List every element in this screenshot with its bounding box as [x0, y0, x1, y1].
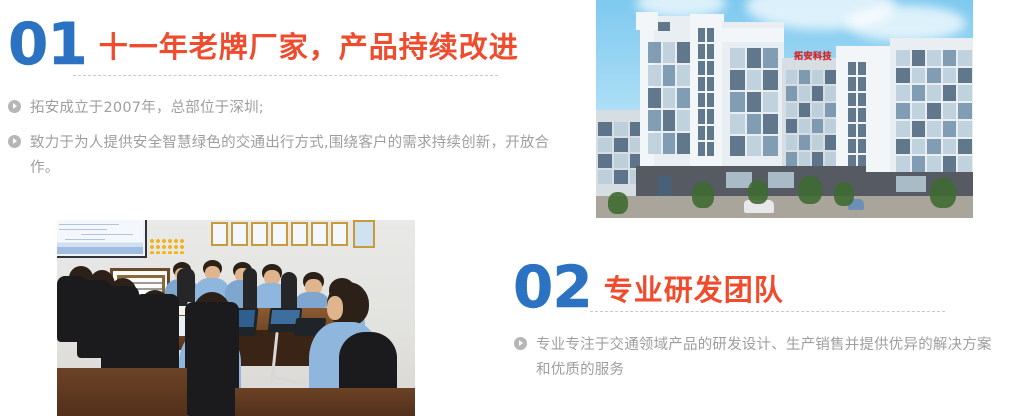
ground-road	[596, 196, 973, 218]
certificate-frame	[291, 222, 308, 246]
section-01: 01 十一年老牌厂家，产品持续改进	[8, 12, 568, 70]
screen-line	[65, 239, 105, 240]
floor	[235, 388, 415, 416]
section-01-number: 01	[8, 18, 87, 70]
window-grid	[730, 48, 778, 156]
roof-box	[636, 12, 658, 30]
list-item-text: 拓安成立于2007年，总部位于深圳;	[30, 96, 264, 121]
certificate-frame	[251, 222, 268, 246]
tree	[748, 180, 768, 204]
certificate-frame	[231, 222, 248, 246]
tree	[930, 178, 956, 208]
certificate-frame	[331, 222, 348, 246]
certificate-frame	[311, 222, 328, 246]
window-grid	[698, 28, 714, 156]
window-grid	[786, 70, 836, 166]
section-02-title: 专业研发团队	[592, 273, 784, 313]
tree	[608, 192, 628, 214]
certificate-frame	[211, 222, 228, 246]
list-item-text: 致力于为人提供安全智慧绿色的交通出行方式,围绕客户的需求持续创新，开放合作。	[30, 131, 568, 181]
tree	[834, 182, 854, 206]
certificate-frame	[353, 220, 375, 248]
cloud	[846, 5, 966, 41]
list-item: 专业专注于交通领域产品的研发设计、生产销售并提供优异的解决方案和优质的服务	[514, 333, 994, 383]
building-sign-text: 拓安科技	[794, 49, 832, 62]
entrance-door	[658, 176, 672, 198]
roof-window	[658, 22, 670, 31]
window-grid	[648, 42, 690, 154]
chair	[243, 268, 257, 312]
company-intro-page: 01 十一年老牌厂家，产品持续改进 拓安成立于2007年，总部位于深圳; 致力于…	[0, 0, 1009, 416]
screen-line	[59, 229, 107, 230]
building-center-top	[722, 28, 784, 42]
chair	[101, 286, 139, 376]
screen-line	[81, 234, 133, 235]
projection-screen	[57, 220, 147, 258]
chevron-right-circle-icon	[514, 337, 527, 350]
ground-window	[768, 172, 794, 188]
section-02-bullet-list: 专业专注于交通领域产品的研发设计、生产销售并提供优异的解决方案和优质的服务	[514, 333, 994, 393]
certificate-frame	[271, 222, 288, 246]
projection-screen-content	[57, 220, 143, 254]
section-02-header: 02 专业研发团队	[513, 255, 983, 313]
chair	[185, 302, 239, 416]
section-01-title: 十一年老牌厂家，产品持续改进	[87, 30, 519, 70]
window-grid	[848, 62, 866, 168]
meeting-photo	[57, 220, 415, 416]
window-grid	[896, 50, 972, 172]
ground-window	[896, 176, 926, 192]
chevron-right-circle-icon	[8, 135, 21, 148]
section-02: 02 专业研发团队	[513, 255, 983, 313]
section-02-divider	[590, 311, 945, 312]
list-item: 致力于为人提供安全智慧绿色的交通出行方式,围绕客户的需求持续创新，开放合作。	[8, 131, 568, 181]
floor	[57, 368, 187, 416]
list-item-text: 专业专注于交通领域产品的研发设计、生产销售并提供优异的解决方案和优质的服务	[536, 333, 994, 383]
screen-line	[59, 224, 119, 225]
section-01-header: 01 十一年老牌厂家，产品持续改进	[8, 12, 568, 70]
section-01-divider	[73, 75, 498, 76]
section-01-bullet-list: 拓安成立于2007年，总部位于深圳; 致力于为人提供安全智慧绿色的交通出行方式,…	[8, 96, 568, 191]
tree	[692, 182, 714, 208]
decorative-dot-pattern	[149, 238, 185, 254]
tree	[798, 176, 822, 204]
list-item: 拓安成立于2007年，总部位于深圳;	[8, 96, 568, 121]
building-photo: 拓安科技	[596, 0, 973, 218]
section-02-number: 02	[513, 261, 592, 313]
chevron-right-circle-icon	[8, 100, 21, 113]
